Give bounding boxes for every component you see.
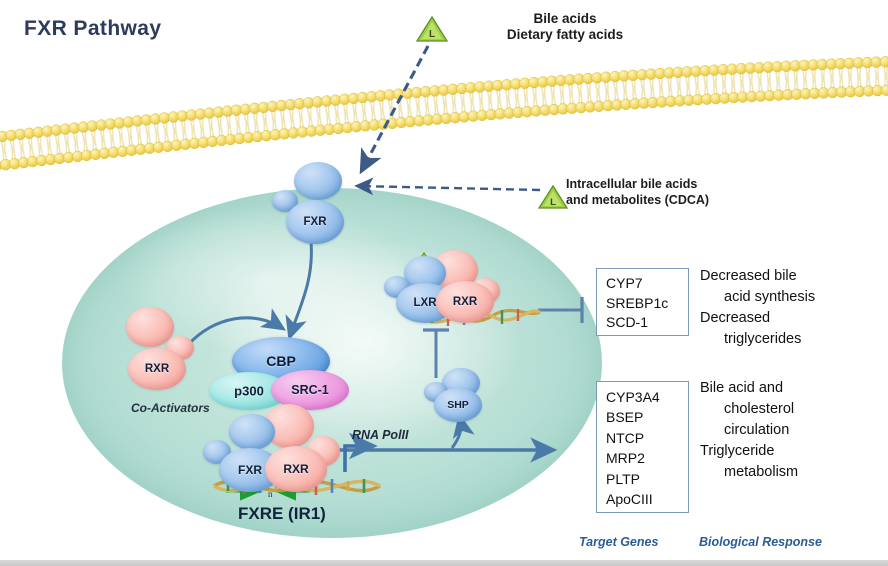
- arrow-intracellular-ligand: [358, 186, 540, 190]
- gene-item: SREBP1c: [606, 294, 688, 314]
- response-line: metabolism: [700, 462, 886, 483]
- cbp-label: CBP: [232, 353, 330, 369]
- gene-list-1: CYP7 SREBP1c SCD-1: [597, 269, 688, 333]
- rxr-lxr-node: RXR: [436, 281, 494, 323]
- gene-item: ApoCIII: [606, 489, 688, 509]
- co-activators-label: Co-Activators: [131, 401, 210, 415]
- gene-item: CYP3A4: [606, 387, 688, 407]
- fxr-membrane-label: FXR: [286, 216, 344, 228]
- response-line: Bile acid and: [700, 380, 783, 396]
- arrow-ligand-entry: [362, 46, 428, 170]
- gene-item: NTCP: [606, 428, 688, 448]
- src1-label: SRC-1: [271, 383, 349, 397]
- ligand-side-line1: Intracellular bile acids: [566, 176, 776, 192]
- gene-item: BSEP: [606, 407, 688, 427]
- ligand-top-line2: Dietary fatty acids: [465, 27, 665, 43]
- response-line: acid synthesis: [700, 287, 886, 308]
- ligand-top-line1: Bile acids: [465, 11, 665, 27]
- response-line: Triglyceride: [700, 441, 886, 462]
- fxr-pathway-diagram: FXR Pathway: [0, 0, 888, 566]
- ligand-icon-top: L: [416, 16, 448, 42]
- gene-item: CYP7: [606, 274, 688, 294]
- ligand-side-line2: and metabolites (CDCA): [566, 192, 776, 208]
- response-line: Decreased: [700, 308, 886, 329]
- footer-biological-response: Biological Response: [699, 535, 822, 549]
- response-line: cholesterol: [700, 399, 886, 420]
- gene-list-2: CYP3A4 BSEP NTCP MRP2 PLTP ApoCIII: [597, 382, 688, 509]
- rxr-free-node: RXR: [128, 348, 186, 390]
- gene-box-decreased-synthesis: CYP7 SREBP1c SCD-1: [596, 268, 689, 336]
- arrow-fxr-translocation: [290, 242, 311, 336]
- svg-text:L: L: [429, 29, 435, 40]
- ligand-side-label: Intracellular bile acids and metabolites…: [566, 176, 776, 208]
- response-bile-acid-circulation: Bile acid and cholesterol circulation Tr…: [700, 378, 886, 483]
- rxr-dna-label: RXR: [265, 462, 327, 476]
- svg-text:L: L: [550, 197, 556, 208]
- gene-item: SCD-1: [606, 313, 688, 333]
- rxr-free-lobe: [126, 307, 174, 347]
- gene-box-bile-acid-circulation: CYP3A4 BSEP NTCP MRP2 PLTP ApoCIII: [596, 381, 689, 513]
- ligand-icon-side: L: [538, 185, 568, 209]
- response-decreased-synthesis: Decreased bile acid synthesis Decreased …: [700, 266, 886, 350]
- response-line: Decreased bile: [700, 268, 797, 284]
- gene-item: PLTP: [606, 469, 688, 489]
- shp-node: SHP: [434, 388, 482, 422]
- rxr-dna-node: RXR: [265, 446, 327, 492]
- gene-item: MRP2: [606, 448, 688, 468]
- rxr-free-label: RXR: [128, 363, 186, 375]
- ligand-top-label: Bile acids Dietary fatty acids: [465, 11, 665, 43]
- fxr-dna-lobe: [229, 414, 275, 450]
- fxr-membrane-node: FXR: [286, 200, 344, 244]
- fxre-label: FXRE (IR1): [238, 504, 326, 524]
- shp-label: SHP: [434, 399, 482, 411]
- rxr-lxr-label: RXR: [436, 296, 494, 308]
- response-line: circulation: [700, 420, 886, 441]
- footer-target-genes: Target Genes: [579, 535, 658, 549]
- rna-polii-label: RNA PolII: [352, 428, 408, 442]
- arrow-shp-induction: [452, 418, 461, 448]
- response-line: triglycerides: [700, 329, 886, 350]
- fxr-membrane-lobe: [294, 162, 342, 200]
- bottom-divider: [0, 560, 888, 566]
